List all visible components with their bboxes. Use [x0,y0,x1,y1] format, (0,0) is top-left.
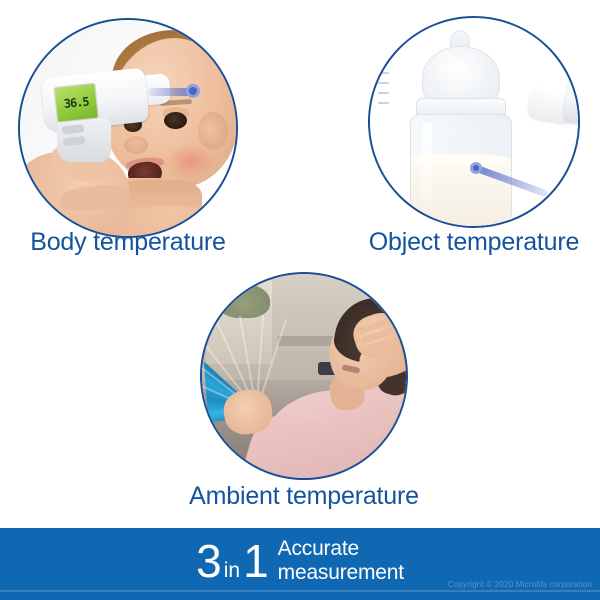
copyright-notice: Copyright © 2020 Microlife corporation [448,580,592,589]
caption-object-temperature: Object temperature [348,228,600,257]
bottle-highlight [422,122,432,214]
headline-line-2: measurement [278,561,404,585]
headline-line-1: Accurate [278,537,404,561]
baby-cheek-blush [166,144,214,178]
bottom-banner: 3 in 1 Accurate measurement [0,528,600,600]
banner-divider [0,590,600,592]
count-three: 3 [196,538,221,584]
object-temperature-photo: 37.0 [368,16,580,228]
baby-eye-near [164,112,187,129]
three-in-one-lockup: 3 in 1 [196,538,268,584]
lcd-reading: 36.5 [63,95,89,110]
count-word-in: in [224,560,240,581]
thermometer-lcd-screen: 36.5 [53,83,99,123]
caption-ambient-temperature: Ambient temperature [154,482,454,511]
bottle-measure-ticks [378,42,392,126]
banner-headline: Accurate measurement [278,537,404,584]
thermometer-device: 36.5 [40,66,165,152]
caption-body-temperature: Body temperature [0,228,256,257]
infographic-canvas: 36.5 Body temperature [0,0,600,600]
body-temperature-photo: 36.5 [18,18,238,238]
baby-ear-shape [198,112,228,150]
count-one: 1 [243,538,268,584]
measurement-target-dot-icon [470,162,482,174]
ambient-temperature-photo [200,272,408,480]
measurement-target-dot-icon [186,84,200,98]
